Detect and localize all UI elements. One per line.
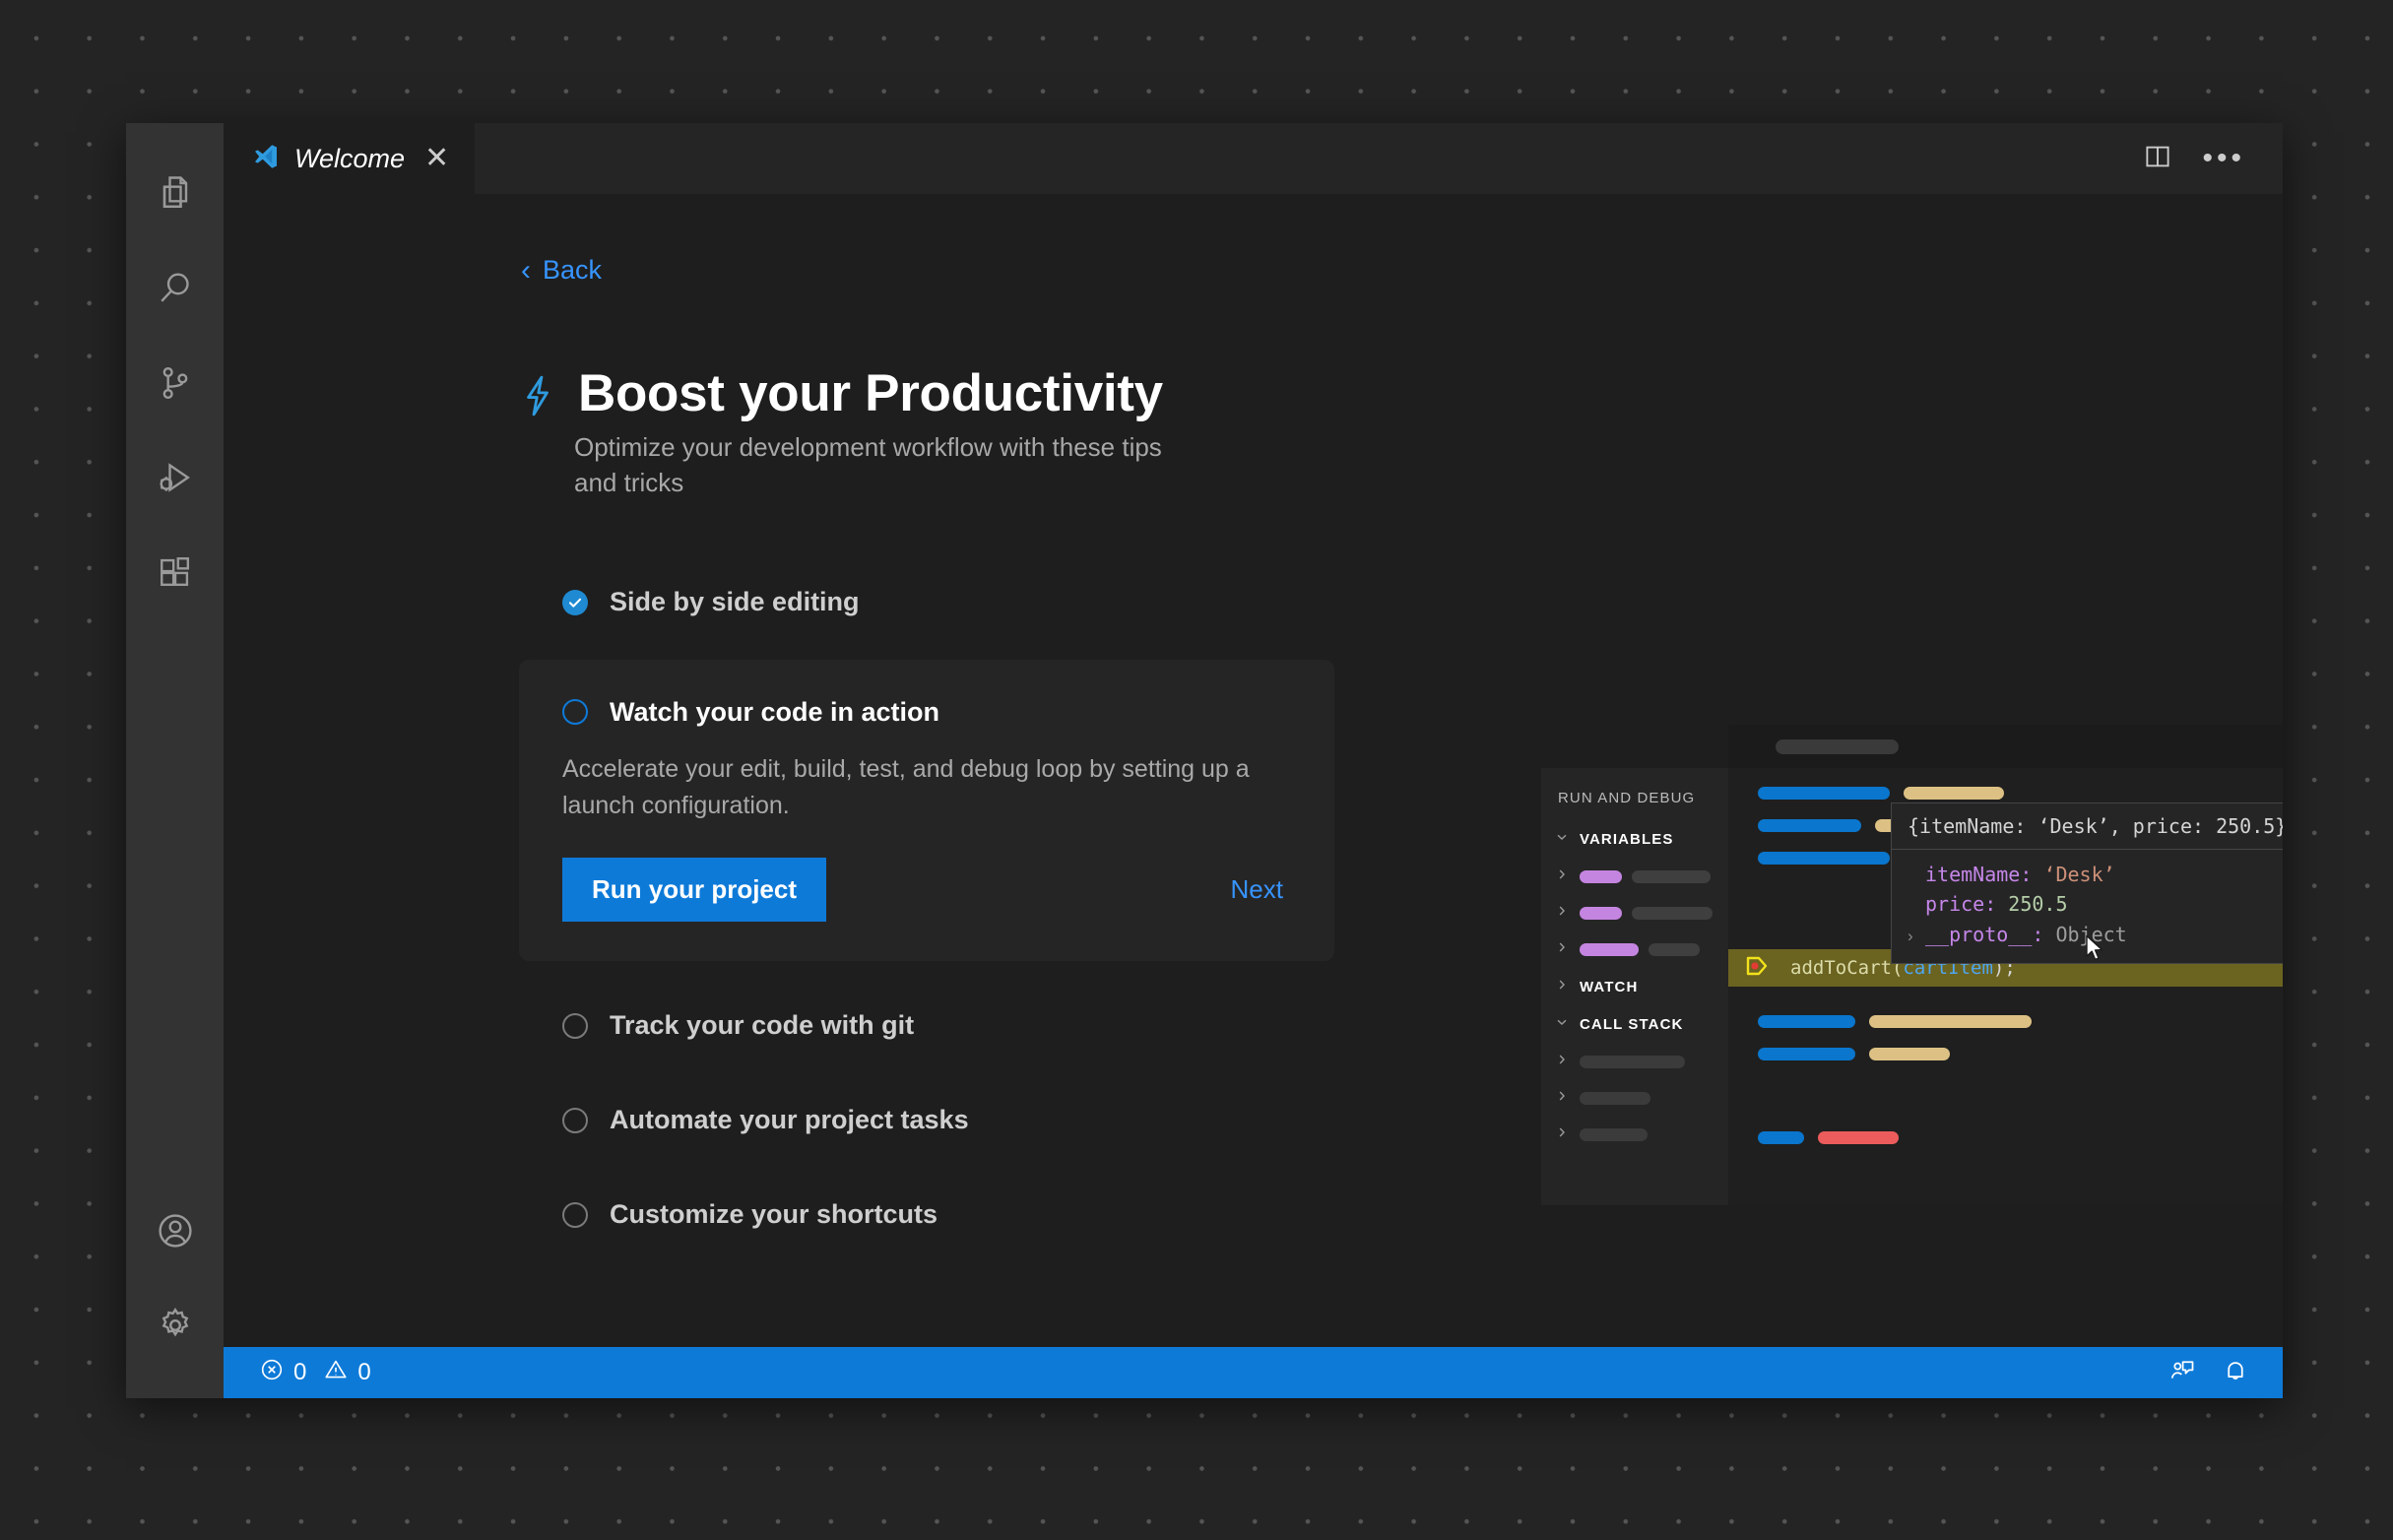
lightning-bolt-icon bbox=[519, 374, 556, 422]
problems-status-item[interactable]: 0 0 bbox=[251, 1357, 379, 1389]
sidebar-item-accounts[interactable] bbox=[126, 1184, 224, 1278]
space bbox=[1996, 889, 2008, 919]
frame-bar bbox=[1580, 1092, 1650, 1105]
frame-bar bbox=[1580, 1128, 1648, 1141]
vscode-logo-icon bbox=[251, 142, 281, 176]
walkthrough-illustration: RUN AND DEBUG VARIABLES bbox=[1541, 725, 2283, 1217]
run-and-debug-panel: RUN AND DEBUG VARIABLES bbox=[1541, 768, 1728, 1205]
next-link[interactable]: Next bbox=[1231, 874, 1295, 905]
call-stack-row[interactable] bbox=[1554, 1088, 1650, 1108]
code-token-bar bbox=[1758, 852, 1890, 865]
bell-icon[interactable] bbox=[2222, 1357, 2249, 1389]
code-line bbox=[1758, 1048, 1950, 1060]
split-editor-icon[interactable] bbox=[2143, 142, 2172, 176]
tab-welcome[interactable]: Welcome ✕ bbox=[224, 123, 476, 194]
more-actions-icon[interactable]: ••• bbox=[2202, 150, 2245, 167]
tab-bar-spacer bbox=[476, 123, 2143, 194]
chevron-right-icon bbox=[1554, 1124, 1570, 1144]
files-icon bbox=[154, 172, 197, 216]
page-title: Boost your Productivity bbox=[578, 366, 1163, 421]
panel-title: RUN AND DEBUG bbox=[1558, 790, 1695, 806]
error-icon bbox=[259, 1357, 285, 1389]
section-variables[interactable]: VARIABLES bbox=[1554, 829, 1673, 849]
back-button[interactable]: ‹ Back bbox=[521, 255, 602, 286]
variable-value-bar bbox=[1632, 870, 1711, 883]
illustration-tab-strip bbox=[1728, 725, 2283, 768]
status-right bbox=[2168, 1357, 2283, 1389]
radio-icon bbox=[562, 1013, 588, 1039]
sidebar-item-manage[interactable] bbox=[126, 1278, 224, 1373]
card-title: Watch your code in action bbox=[610, 697, 939, 728]
back-label: Back bbox=[543, 255, 602, 286]
step-side-by-side-editing[interactable]: Side by side editing bbox=[519, 555, 1504, 650]
chevron-down-icon bbox=[1554, 1014, 1570, 1034]
walkthrough-content: Boost your Productivity Optimize your de… bbox=[519, 366, 1504, 1262]
walkthrough-editor: ‹ Back Boost your Productivity Optimize … bbox=[224, 194, 2283, 1347]
tab-bar: Welcome ✕ ••• bbox=[224, 123, 2283, 194]
section-watch[interactable]: WATCH bbox=[1554, 977, 1638, 996]
step-automate-your-project-tasks[interactable]: Automate your project tasks bbox=[519, 1073, 1504, 1168]
error-count: 0 bbox=[293, 1359, 306, 1386]
step-label: Track your code with git bbox=[610, 1010, 914, 1041]
call-stack-row[interactable] bbox=[1554, 1052, 1685, 1071]
vscode-window: Welcome ✕ ••• ‹ Back bbox=[126, 123, 2283, 1398]
gear-icon bbox=[154, 1304, 197, 1347]
sidebar-item-extensions[interactable] bbox=[126, 525, 224, 619]
hover-row[interactable]: itemName: ‘Desk’ bbox=[1908, 860, 2283, 889]
sidebar-item-run-and-debug[interactable] bbox=[126, 430, 224, 525]
code-token-bar bbox=[1758, 1131, 1804, 1144]
activity-bar bbox=[126, 123, 224, 1398]
run-your-project-button[interactable]: Run your project bbox=[562, 858, 826, 922]
code-token-bar bbox=[1758, 787, 1890, 800]
space bbox=[2032, 860, 2043, 889]
radio-icon bbox=[562, 1108, 588, 1133]
code-function: addToCart( bbox=[1790, 957, 1903, 979]
frame-bar bbox=[1580, 1056, 1685, 1068]
chevron-right-icon bbox=[1554, 866, 1570, 886]
call-stack-row[interactable] bbox=[1554, 1124, 1648, 1144]
variable-name-bar bbox=[1580, 943, 1639, 956]
property-value: ‘Desk’ bbox=[2043, 860, 2114, 889]
step-label: Customize your shortcuts bbox=[610, 1199, 938, 1230]
tab-label: Welcome bbox=[294, 144, 405, 174]
card-head: Watch your code in action bbox=[562, 697, 1295, 728]
status-bar: 0 0 bbox=[224, 1347, 2283, 1398]
chevron-left-icon: ‹ bbox=[521, 256, 531, 286]
code-token-bar bbox=[1869, 1015, 2032, 1028]
breakpoint-arrow-icon bbox=[1745, 955, 1769, 982]
variable-row[interactable] bbox=[1554, 903, 1713, 923]
warning-icon bbox=[323, 1357, 349, 1389]
sidebar-item-search[interactable] bbox=[126, 241, 224, 336]
account-icon bbox=[154, 1209, 197, 1252]
step-label: Automate your project tasks bbox=[610, 1105, 969, 1135]
chevron-right-icon bbox=[1554, 939, 1570, 959]
property-key: __proto__: bbox=[1925, 920, 2043, 949]
hover-summary: {itemName: ‘Desk’, price: 250.5} bbox=[1892, 803, 2283, 850]
code-error-bar bbox=[1818, 1131, 1899, 1144]
code-token-bar bbox=[1758, 1048, 1855, 1060]
title-row: Boost your Productivity bbox=[519, 366, 1504, 422]
code-line bbox=[1758, 787, 2004, 800]
variable-name-bar bbox=[1580, 907, 1622, 920]
chevron-right-icon bbox=[1554, 1088, 1570, 1108]
close-icon[interactable]: ✕ bbox=[424, 144, 449, 173]
search-icon bbox=[154, 267, 197, 310]
radio-icon bbox=[562, 699, 588, 725]
sidebar-item-explorer[interactable] bbox=[126, 147, 224, 241]
code-token-bar bbox=[1758, 1015, 1855, 1028]
check-circle-icon bbox=[562, 590, 588, 615]
chevron-right-icon[interactable]: › bbox=[1908, 924, 1925, 949]
warning-count: 0 bbox=[357, 1359, 370, 1386]
main-area: Welcome ✕ ••• ‹ Back bbox=[224, 123, 2283, 1398]
section-label: WATCH bbox=[1580, 979, 1638, 995]
chevron-down-icon bbox=[1554, 829, 1570, 849]
section-label: CALL STACK bbox=[1580, 1016, 1683, 1033]
step-customize-your-shortcuts[interactable]: Customize your shortcuts bbox=[519, 1168, 1504, 1262]
code-line bbox=[1758, 1131, 1899, 1144]
variable-row[interactable] bbox=[1554, 866, 1711, 886]
chevron-right-icon bbox=[1554, 903, 1570, 923]
variable-value-bar bbox=[1649, 943, 1700, 956]
placeholder-bar bbox=[1776, 739, 1899, 754]
step-list: Side by side editing Watch your code in … bbox=[519, 555, 1504, 1262]
code-token-bar bbox=[1758, 819, 1861, 832]
space bbox=[2043, 920, 2055, 949]
property-key: itemName: bbox=[1925, 860, 2032, 889]
mouse-cursor-icon bbox=[2085, 934, 2106, 969]
step-track-your-code-with-git[interactable]: Track your code with git bbox=[519, 979, 1504, 1073]
step-card-watch-your-code-in-action[interactable]: Watch your code in action Accelerate you… bbox=[519, 660, 1334, 961]
variable-row[interactable] bbox=[1554, 939, 1700, 959]
chevron-right-icon bbox=[1554, 1052, 1570, 1071]
run-and-debug-icon bbox=[154, 456, 197, 499]
property-key: price: bbox=[1925, 889, 1996, 919]
code-token-bar bbox=[1869, 1048, 1950, 1060]
code-token-bar bbox=[1904, 787, 2004, 800]
extensions-icon bbox=[154, 550, 197, 594]
editor-actions: ••• bbox=[2143, 123, 2283, 194]
feedback-icon[interactable] bbox=[2168, 1357, 2196, 1389]
chevron-right-icon bbox=[1554, 977, 1570, 996]
hover-row[interactable]: price: 250.5 bbox=[1908, 889, 2283, 919]
step-label: Side by side editing bbox=[610, 587, 860, 617]
status-left: 0 0 bbox=[251, 1357, 379, 1389]
variable-name-bar bbox=[1580, 870, 1622, 883]
source-control-icon bbox=[154, 361, 197, 405]
code-line bbox=[1758, 1015, 2032, 1028]
card-actions: Run your project Next bbox=[562, 858, 1295, 922]
radio-icon bbox=[562, 1202, 588, 1228]
section-label: VARIABLES bbox=[1580, 831, 1673, 848]
property-value: 250.5 bbox=[2008, 889, 2067, 919]
page-subtitle: Optimize your development workflow with … bbox=[574, 430, 1204, 501]
variable-value-bar bbox=[1632, 907, 1713, 920]
sidebar-item-source-control[interactable] bbox=[126, 336, 224, 430]
card-description: Accelerate your edit, build, test, and d… bbox=[562, 751, 1271, 824]
section-call-stack[interactable]: CALL STACK bbox=[1554, 1014, 1683, 1034]
